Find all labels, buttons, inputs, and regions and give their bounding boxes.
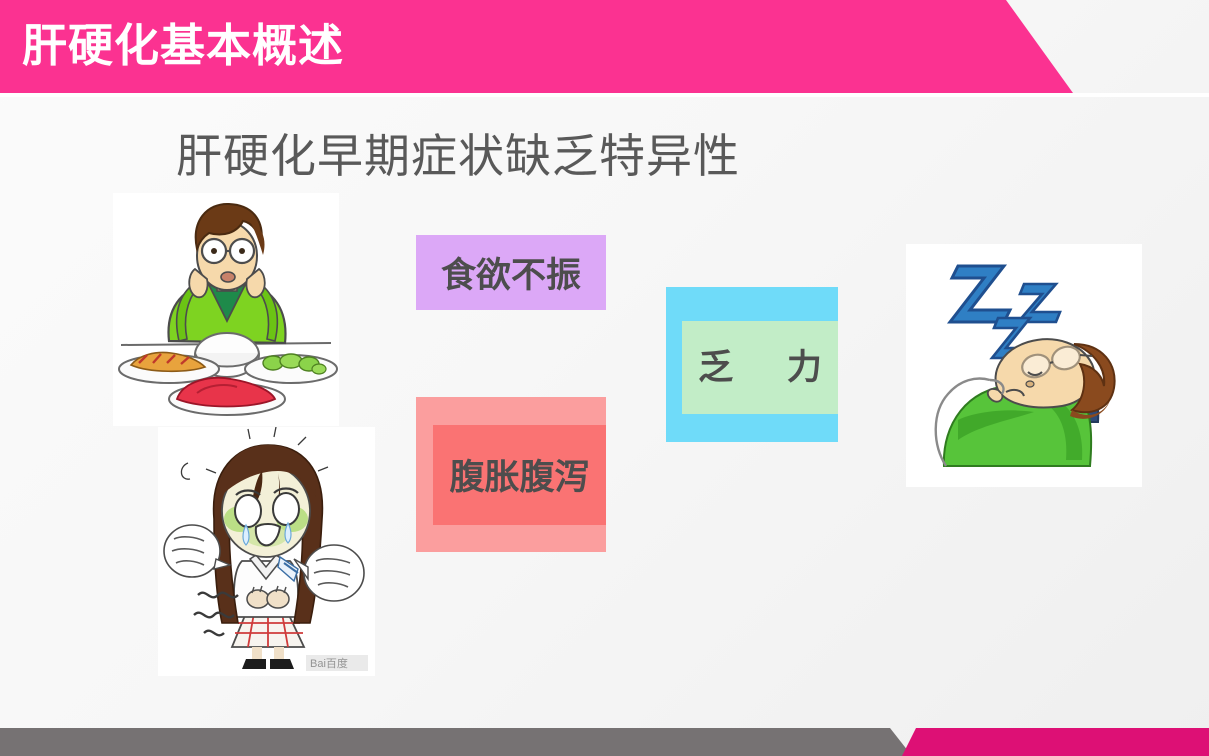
symptom-label-appetite: 食欲不振 xyxy=(441,258,581,293)
image-sick-girl: Bai百度 xyxy=(158,427,375,676)
sick-girl-illustration: Bai百度 xyxy=(158,427,375,676)
symptom-label-bloating: 腹胀腹泻 xyxy=(449,460,589,495)
image-sleepy-man xyxy=(906,244,1142,487)
symptom-box-fatigue-inner: 乏 力 xyxy=(682,321,838,414)
symptom-box-appetite: 食欲不振 xyxy=(416,235,606,310)
header-divider xyxy=(0,93,1209,97)
footer-bar-gray xyxy=(0,728,912,756)
svg-text:Bai百度: Bai百度 xyxy=(310,656,348,670)
presentation-slide: 肝硬化基本概述 肝硬化早期症状缺乏特异性 xyxy=(0,0,1209,756)
symptom-box-bloating-inner: 腹胀腹泻 xyxy=(433,425,606,525)
page-title: 肝硬化基本概述 xyxy=(22,14,344,78)
no-appetite-illustration xyxy=(113,193,339,426)
footer-bar-pink xyxy=(902,728,1209,756)
symptom-label-fatigue: 乏 力 xyxy=(676,350,844,385)
slide-subtitle: 肝硬化早期症状缺乏特异性 xyxy=(176,120,740,186)
image-no-appetite xyxy=(113,193,339,426)
sleepy-man-illustration xyxy=(906,244,1142,487)
